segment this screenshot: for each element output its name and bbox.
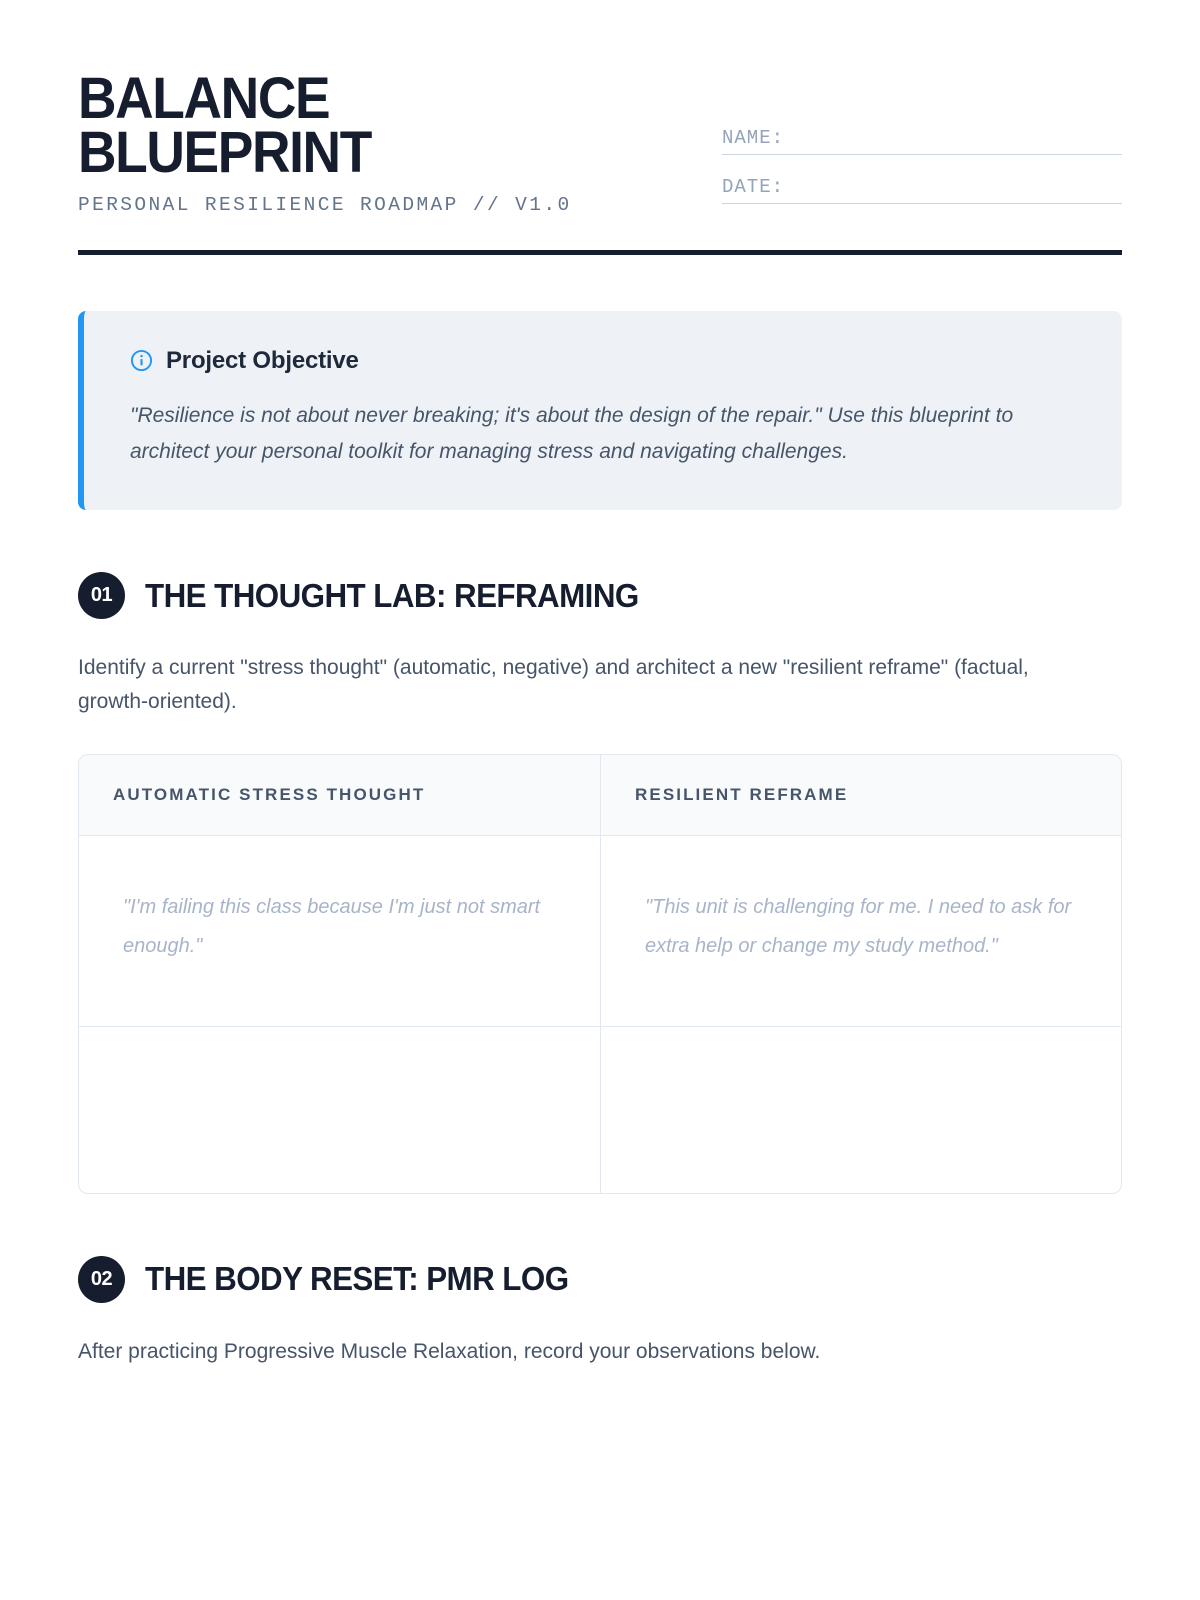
title-block: BALANCE BLUEPRINT PERSONAL RESILIENCE RO… <box>78 72 572 216</box>
column-header-stress-thought: AUTOMATIC STRESS THOUGHT <box>79 755 600 835</box>
cell-text: "I'm failing this class because I'm just… <box>113 866 566 996</box>
section-01-number-badge: 01 <box>78 572 125 619</box>
cell-text: "This unit is challenging for me. I need… <box>635 866 1087 996</box>
callout-header: Project Objective <box>130 347 1078 375</box>
section-02-description: After practicing Progressive Muscle Rela… <box>78 1335 1038 1369</box>
reframing-table: AUTOMATIC STRESS THOUGHT RESILIENT REFRA… <box>78 754 1122 1194</box>
cell-resilient-reframe-example[interactable]: "This unit is challenging for me. I need… <box>600 836 1121 1026</box>
meta-fields: NAME: DATE: <box>722 127 1122 204</box>
name-label: NAME: <box>722 127 784 149</box>
table-row: "I'm failing this class because I'm just… <box>79 835 1121 1026</box>
document-header: BALANCE BLUEPRINT PERSONAL RESILIENCE RO… <box>78 0 1122 216</box>
date-label: DATE: <box>722 176 784 198</box>
section-02-header: 02 THE BODY RESET: PMR LOG <box>78 1256 1122 1303</box>
header-divider <box>78 250 1122 255</box>
table-row <box>79 1026 1121 1193</box>
cell-stress-thought-empty[interactable] <box>79 1027 600 1193</box>
section-02: 02 THE BODY RESET: PMR LOG After practic… <box>78 1256 1122 1369</box>
worksheet-page: BALANCE BLUEPRINT PERSONAL RESILIENCE RO… <box>0 0 1200 1600</box>
project-objective-callout: Project Objective "Resilience is not abo… <box>78 311 1122 510</box>
section-01-header: 01 THE THOUGHT LAB: REFRAMING <box>78 572 1122 619</box>
page-title-line2: BLUEPRINT <box>78 126 532 180</box>
section-01-description: Identify a current "stress thought" (aut… <box>78 651 1038 719</box>
section-01: 01 THE THOUGHT LAB: REFRAMING Identify a… <box>78 572 1122 1193</box>
page-title-line1: BALANCE <box>78 72 532 126</box>
section-01-title: THE THOUGHT LAB: REFRAMING <box>145 577 639 615</box>
table-header-row: AUTOMATIC STRESS THOUGHT RESILIENT REFRA… <box>79 755 1121 835</box>
column-header-resilient-reframe: RESILIENT REFRAME <box>600 755 1121 835</box>
callout-title: Project Objective <box>166 347 359 375</box>
section-02-number-badge: 02 <box>78 1256 125 1303</box>
section-02-title: THE BODY RESET: PMR LOG <box>145 1260 569 1298</box>
callout-body: "Resilience is not about never breaking;… <box>130 398 1060 470</box>
name-field-row[interactable]: NAME: <box>722 127 1122 155</box>
cell-resilient-reframe-empty[interactable] <box>600 1027 1121 1193</box>
date-field-row[interactable]: DATE: <box>722 176 1122 204</box>
info-circle-icon <box>130 349 153 372</box>
page-subtitle: PERSONAL RESILIENCE ROADMAP // V1.0 <box>78 194 572 216</box>
cell-stress-thought-example[interactable]: "I'm failing this class because I'm just… <box>79 836 600 1026</box>
